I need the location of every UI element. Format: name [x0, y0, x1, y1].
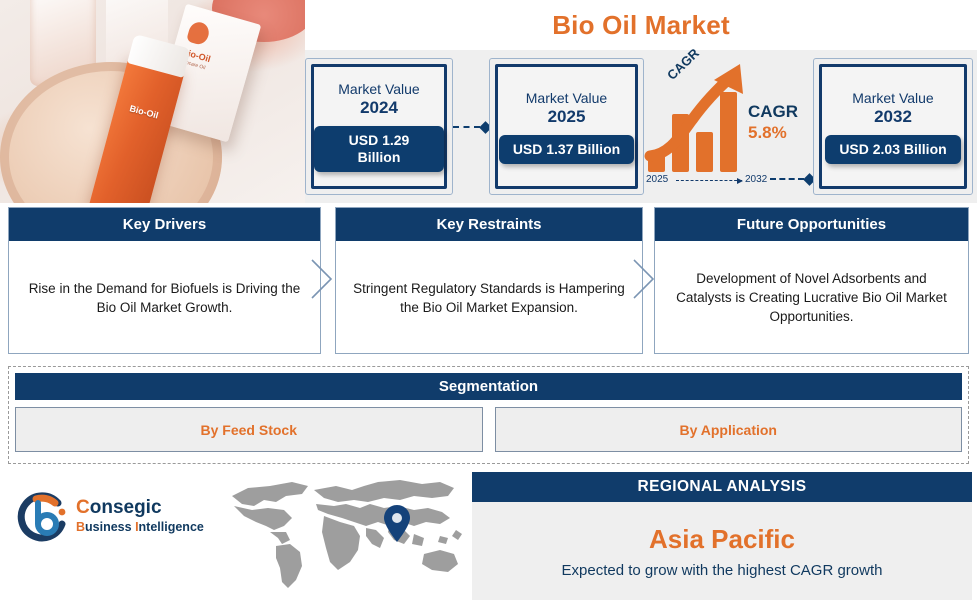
- connector-cagr-2032: [770, 174, 814, 184]
- cagr-value: 5.8%: [748, 122, 798, 143]
- cagr-year-end: 2032: [745, 174, 767, 185]
- cagr-axis-arrow-icon: [676, 180, 742, 181]
- top-band: Bio-Oil Skincare Oil Bio-Oil Bio Oil Mar…: [0, 0, 977, 203]
- bottom-band: Consegic Business Intelligence: [0, 466, 977, 600]
- panel-title: Key Drivers: [9, 208, 320, 241]
- panel-title: Future Opportunities: [655, 208, 968, 241]
- card-inner: Market Value 2025 USD 1.37 Billion: [495, 64, 638, 189]
- connector-2024-2025: [453, 122, 490, 132]
- market-value-card-2025: Market Value 2025 USD 1.37 Billion: [489, 58, 644, 195]
- card-year: 2025: [548, 106, 586, 127]
- logo-line2-ntelligence: ntelligence: [139, 520, 204, 534]
- panel-title: Key Restraints: [336, 208, 642, 241]
- market-value-card-2032: Market Value 2032 USD 2.03 Billion: [813, 58, 973, 195]
- card-value-pill: USD 2.03 Billion: [825, 135, 960, 164]
- bottle-brand-label: Bio-Oil: [119, 101, 170, 124]
- segment-by-feed-stock[interactable]: By Feed Stock: [15, 407, 483, 452]
- segmentation-title: Segmentation: [15, 373, 962, 400]
- segmentation-row: By Feed Stock By Application: [15, 407, 962, 452]
- chevron-right-icon-2: [633, 259, 655, 299]
- panel-key-restraints: Key Restraints Stringent Regulatory Stan…: [335, 207, 643, 354]
- panel-key-drivers: Key Drivers Rise in the Demand for Biofu…: [8, 207, 321, 354]
- panel-body: Rise in the Demand for Biofuels is Drivi…: [9, 241, 320, 354]
- card-value-pill: USD 1.37 Billion: [499, 135, 634, 164]
- card-inner: Market Value 2024 USD 1.29 Billion: [311, 64, 447, 189]
- logo-line-2: Business Intelligence: [76, 519, 204, 535]
- page-title: Bio Oil Market: [552, 10, 730, 41]
- growth-chart-icon: [644, 58, 754, 176]
- panel-text: Stringent Regulatory Standards is Hamper…: [350, 279, 628, 317]
- segmentation-section: Segmentation By Feed Stock By Applicatio…: [8, 366, 969, 464]
- chevron-right-icon-1: [311, 259, 333, 299]
- logo-line1-initial: C: [76, 497, 90, 518]
- consegic-logo-mark-icon: [14, 490, 72, 548]
- logo-line1-rest: onsegic: [90, 497, 162, 518]
- panel-future-opportunities: Future Opportunities Development of Nove…: [654, 207, 969, 354]
- regional-note: Expected to grow with the highest CAGR g…: [562, 560, 883, 582]
- panel-body: Development of Novel Adsorbents and Cata…: [655, 241, 968, 354]
- world-map: [218, 472, 468, 594]
- box-droplet-icon: [186, 20, 211, 47]
- company-logo: Consegic Business Intelligence: [14, 490, 214, 554]
- insight-panels: Key Drivers Rise in the Demand for Biofu…: [0, 207, 977, 360]
- card-label: Market Value: [852, 90, 933, 107]
- panel-body: Stringent Regulatory Standards is Hamper…: [336, 241, 642, 354]
- card-year: 2024: [360, 97, 398, 118]
- cagr-readout: CAGR 5.8%: [748, 102, 798, 143]
- logo-line2-usiness: usiness: [85, 520, 135, 534]
- card-label: Market Value: [526, 90, 607, 107]
- panel-text: Development of Novel Adsorbents and Cata…: [669, 269, 954, 326]
- regional-analysis-section: REGIONAL ANALYSIS Asia Pacific Expected …: [472, 472, 972, 600]
- regional-analysis-title: REGIONAL ANALYSIS: [472, 472, 972, 502]
- cagr-word: CAGR: [748, 102, 798, 122]
- connector-dash: [453, 126, 480, 128]
- infographic-page: Bio-Oil Skincare Oil Bio-Oil Bio Oil Mar…: [0, 0, 977, 600]
- market-value-band: Market Value 2024 USD 1.29 Billion Marke…: [305, 50, 977, 203]
- card-value-pill: USD 1.29 Billion: [314, 126, 444, 172]
- world-map-icon: [218, 472, 468, 594]
- regional-top-region: Asia Pacific: [649, 523, 795, 556]
- panel-text: Rise in the Demand for Biofuels is Drivi…: [23, 279, 306, 317]
- logo-line2-b: B: [76, 520, 85, 534]
- connector-dash: [770, 178, 804, 180]
- regional-analysis-body: Asia Pacific Expected to grow with the h…: [472, 502, 972, 600]
- market-value-card-2024: Market Value 2024 USD 1.29 Billion: [305, 58, 453, 195]
- logo-line-1: Consegic: [76, 496, 204, 519]
- card-year: 2032: [874, 106, 912, 127]
- logo-wordmark: Consegic Business Intelligence: [76, 496, 204, 535]
- title-area: Bio Oil Market: [305, 0, 977, 50]
- card-label: Market Value: [338, 81, 419, 98]
- segment-by-application[interactable]: By Application: [495, 407, 963, 452]
- cagr-year-start: 2025: [646, 174, 668, 185]
- product-photo: Bio-Oil Skincare Oil Bio-Oil: [0, 0, 305, 203]
- card-inner: Market Value 2032 USD 2.03 Billion: [819, 64, 967, 189]
